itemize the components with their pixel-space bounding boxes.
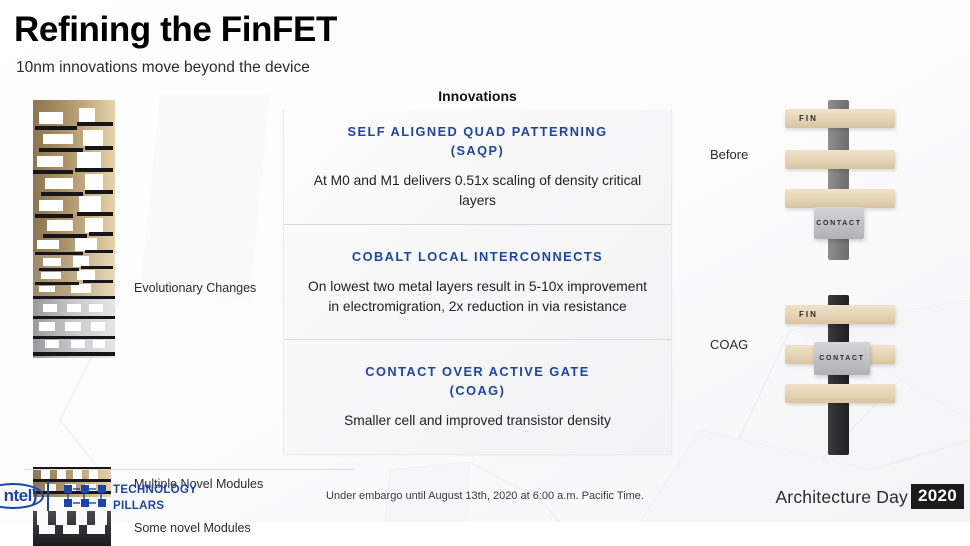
innovation-card-body: On lowest two metal layers result in 5-1…: [302, 277, 653, 316]
fin-bar: [785, 189, 895, 208]
innovation-card-title: COBALT LOCAL INTERCONNECTS: [352, 248, 603, 267]
innovation-card-title-line2: (SAQP): [347, 142, 607, 161]
innovation-card-body: At M0 and M1 delivers 0.51x scaling of d…: [302, 171, 653, 210]
fin-bar: FIN: [785, 305, 895, 324]
label-some-novel-modules: Some novel Modules: [134, 521, 251, 535]
diagram-coag-label: COAG: [710, 337, 748, 352]
innovation-card-title: SELF ALIGNED QUAD PATTERNING (SAQP): [347, 123, 607, 160]
footer-divider: [24, 469, 354, 470]
page-subtitle: 10nm innovations move beyond the device: [16, 59, 310, 77]
innovation-card-title: CONTACT OVER ACTIVE GATE (COAG): [365, 363, 589, 400]
diagram-before: Before FIN CONTACT: [690, 95, 970, 270]
contact-block: CONTACT: [814, 207, 864, 239]
event-year-badge: 2020: [911, 484, 964, 509]
innovation-card-saqp[interactable]: SELF ALIGNED QUAD PATTERNING (SAQP) At M…: [284, 110, 671, 224]
fin-bar: [785, 384, 895, 403]
innovation-card-title-line1: CONTACT OVER ACTIVE GATE: [365, 363, 589, 382]
label-evolutionary-changes: Evolutionary Changes: [134, 281, 256, 295]
innovations-heading: Innovations: [283, 88, 672, 104]
innovation-card-title-line1: SELF ALIGNED QUAD PATTERNING: [347, 123, 607, 142]
innovation-card-title-line1: COBALT LOCAL INTERCONNECTS: [352, 248, 603, 267]
innovation-card-cobalt[interactable]: COBALT LOCAL INTERCONNECTS On lowest two…: [284, 224, 671, 339]
fin-bar: [785, 150, 895, 169]
innovation-card-title-line2: (COAG): [365, 382, 589, 401]
innovation-card-body: Smaller cell and improved transistor den…: [344, 411, 611, 431]
diagram-coag: COAG FIN CONTACT: [690, 285, 970, 460]
page-title: Refining the FinFET: [14, 10, 337, 50]
innovation-card-coag[interactable]: CONTACT OVER ACTIVE GATE (COAG) Smaller …: [284, 339, 671, 454]
contact-block: CONTACT: [814, 342, 870, 375]
diagram-before-label: Before: [710, 147, 748, 162]
left-column: Evolutionary Changes Multiple Novel Modu…: [0, 95, 270, 455]
interconnect-stack-full-graphic: [33, 100, 115, 358]
fin-bar: FIN: [785, 109, 895, 128]
footer: ntel) TECHNOLOGY PILLARS Under embargo u…: [0, 467, 970, 522]
innovations-panel: SELF ALIGNED QUAD PATTERNING (SAQP) At M…: [283, 110, 672, 455]
event-name: Architecture Day: [775, 487, 908, 508]
